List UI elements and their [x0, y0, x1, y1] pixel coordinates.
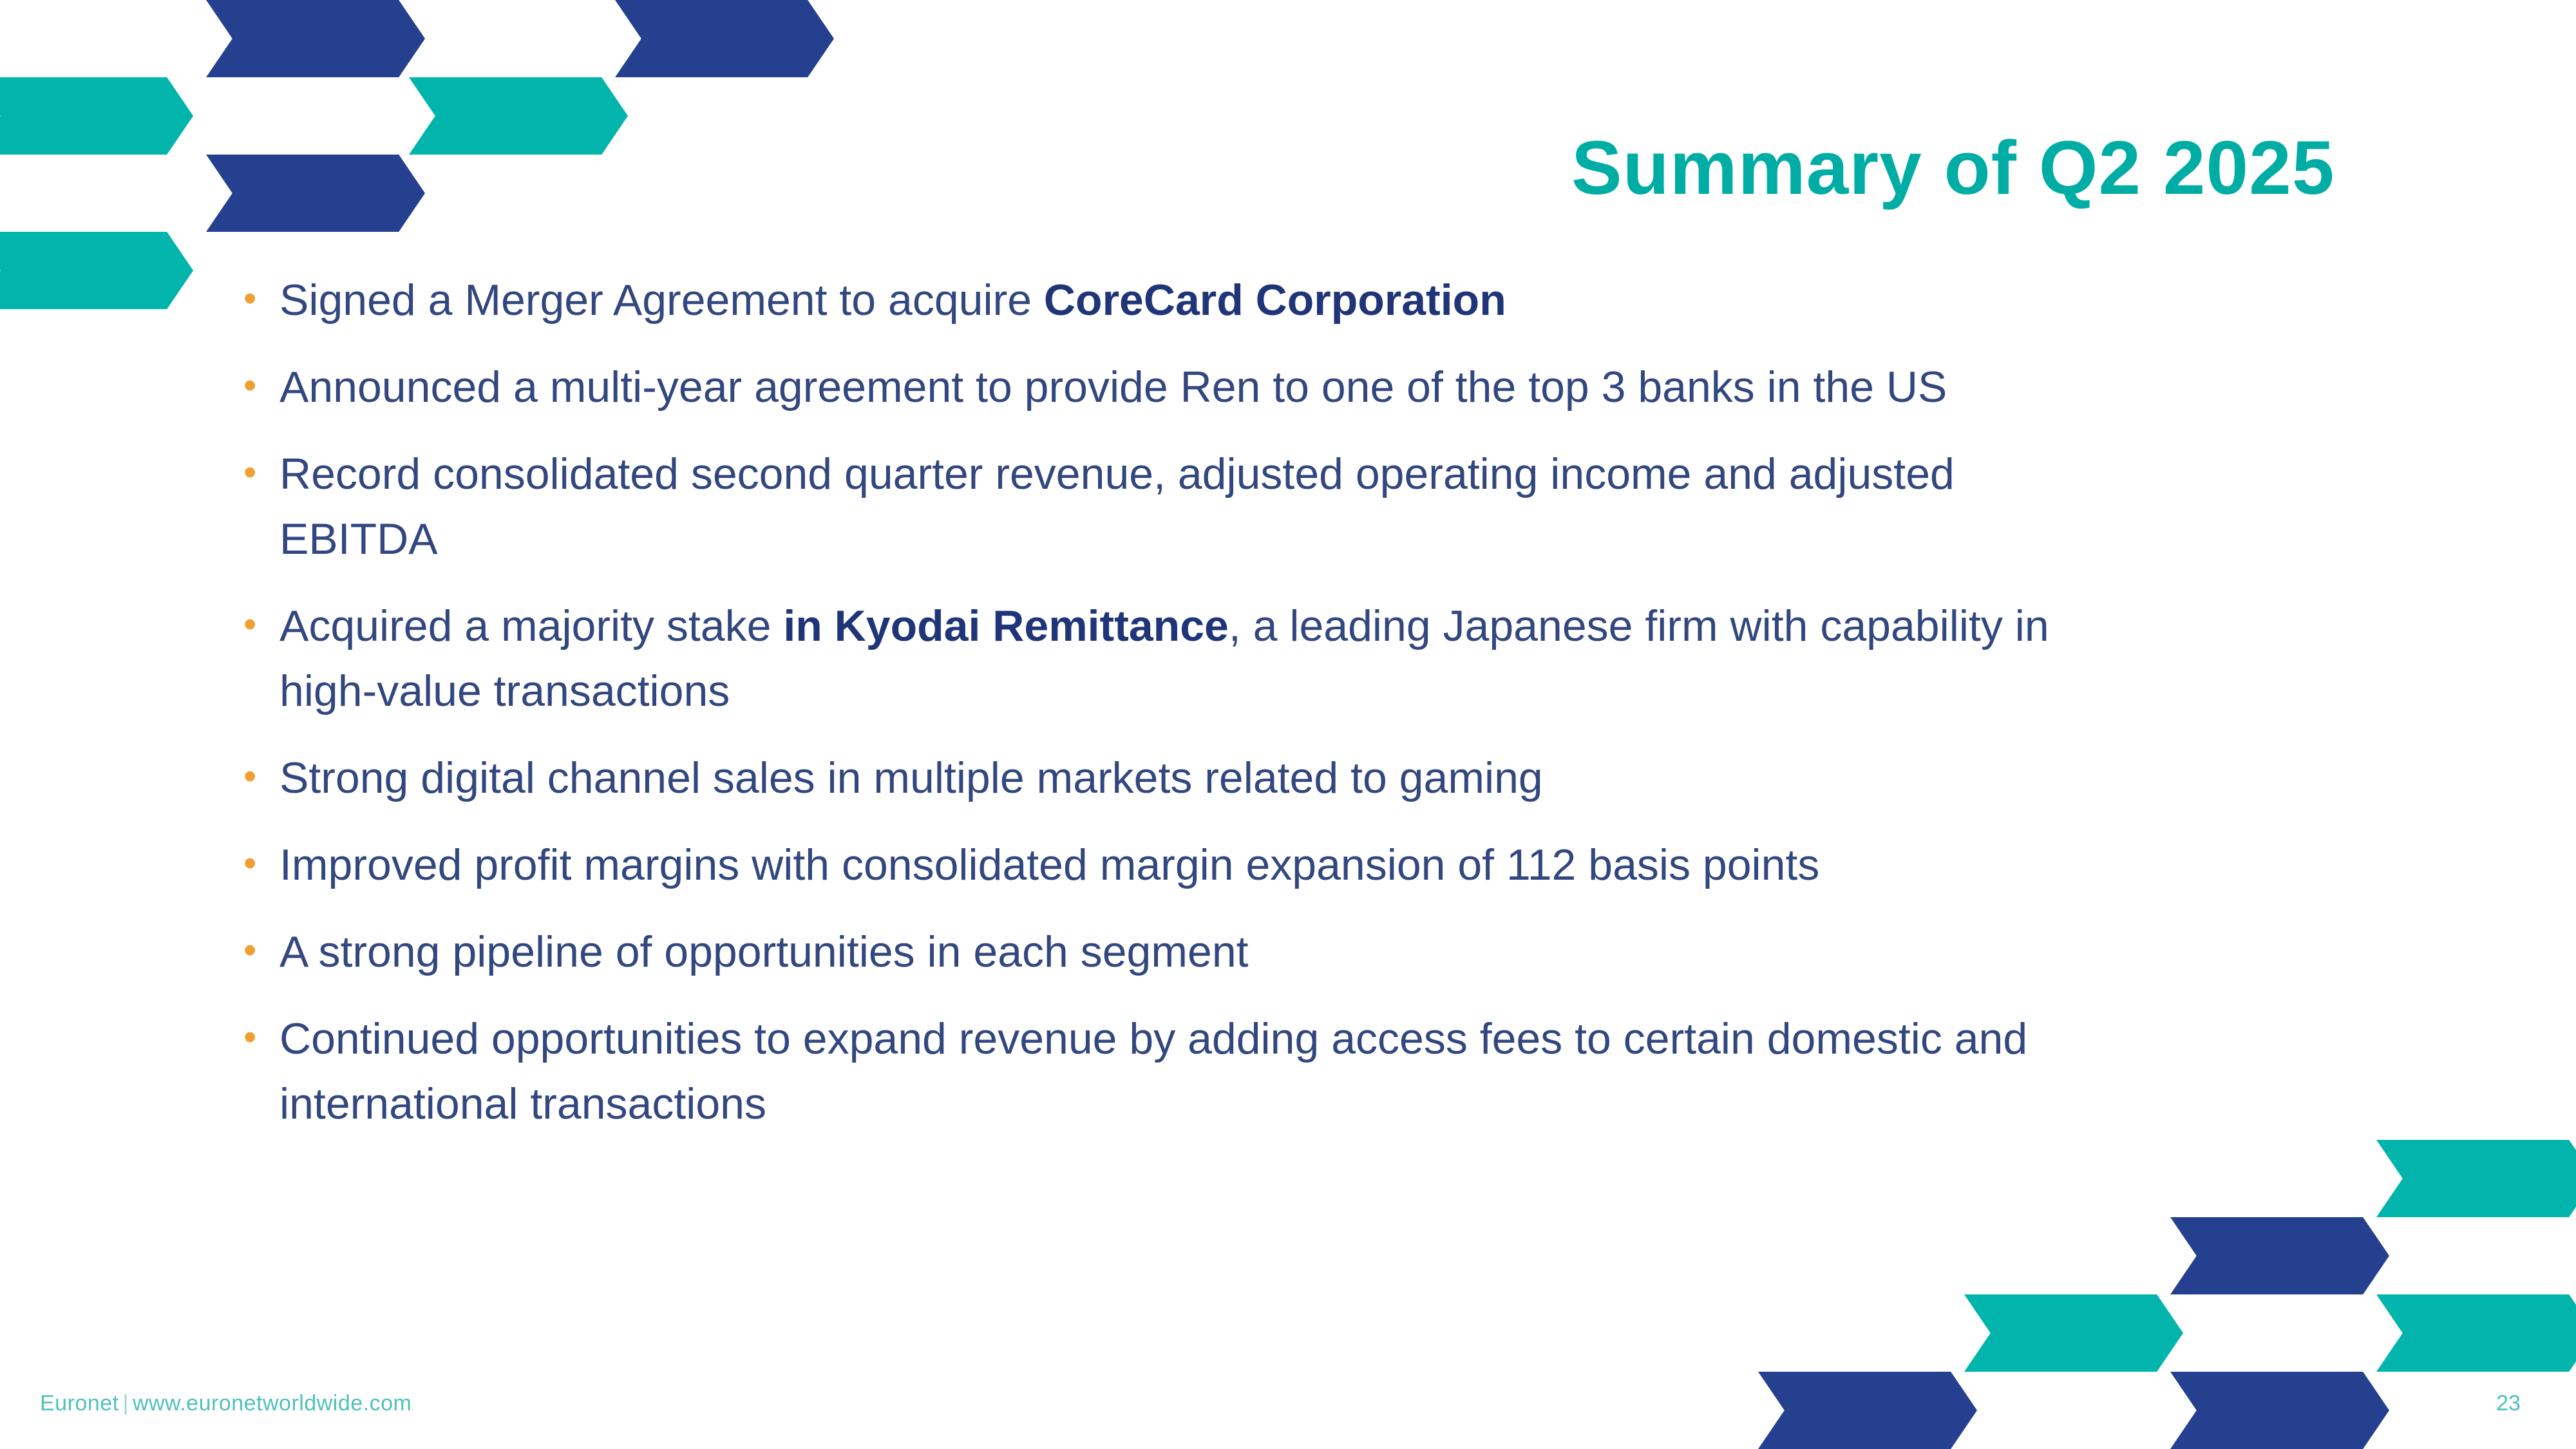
footer-website-link[interactable]: www.euronetworldwide.com: [133, 1391, 412, 1416]
deco-bottom-right-chevron-6: [2170, 1372, 2389, 1449]
bullet-item: •A strong pipeline of opportunities in e…: [238, 920, 2170, 985]
bullet-marker-icon: •: [238, 594, 279, 656]
bullet-emphasis: in Kyodai Remittance: [783, 601, 1229, 650]
footer-separator: |: [119, 1391, 133, 1416]
bullet-marker-icon: •: [238, 833, 279, 895]
bullet-text-run: Announced a multi-year agreement to prov…: [279, 363, 1947, 412]
bullet-item: •Continued opportunities to expand reven…: [238, 1007, 2170, 1137]
bullet-text-run: Strong digital channel sales in multiple…: [279, 753, 1543, 802]
bullet-text-run: A strong pipeline of opportunities in ea…: [279, 927, 1249, 976]
bullet-text: Acquired a majority stake in Kyodai Remi…: [279, 594, 2083, 724]
bullet-text: Signed a Merger Agreement to acquire Cor…: [279, 268, 2083, 333]
bullet-text-run: Record consolidated second quarter reven…: [279, 450, 1955, 563]
deco-bottom-right-chevron-4: [2376, 1294, 2576, 1372]
deco-bottom-right-chevron-5: [1758, 1372, 1977, 1449]
bullet-item: •Signed a Merger Agreement to acquire Co…: [238, 268, 2170, 333]
deco-top-left-chevron-1: [206, 0, 425, 77]
bullet-marker-icon: •: [238, 442, 279, 504]
page-title: Summary of Q2 2025: [1571, 129, 2334, 209]
bullet-text: A strong pipeline of opportunities in ea…: [279, 920, 2083, 985]
bullet-marker-icon: •: [238, 746, 279, 808]
bullet-text: Record consolidated second quarter reven…: [279, 442, 2083, 572]
bullet-marker-icon: •: [238, 355, 279, 417]
bullet-text: Improved profit margins with consolidate…: [279, 833, 2083, 898]
bullet-marker-icon: •: [238, 268, 279, 330]
bullet-emphasis: CoreCard Corporation: [1044, 276, 1506, 325]
bullet-text: Announced a multi-year agreement to prov…: [279, 355, 2083, 420]
bullet-item: •Acquired a majority stake in Kyodai Rem…: [238, 594, 2170, 724]
deco-top-left-chevron-5: [206, 155, 425, 232]
deco-bottom-right-chevron-3: [1964, 1294, 2183, 1372]
deco-bottom-right-chevron-2: [2170, 1217, 2389, 1294]
deco-bottom-right-chevron-1: [2376, 1140, 2576, 1217]
bullet-item: •Improved profit margins with consolidat…: [238, 833, 2170, 898]
bullet-marker-icon: •: [238, 1007, 279, 1068]
bullet-item: •Announced a multi-year agreement to pro…: [238, 355, 2170, 420]
deco-top-left-chevron-2: [615, 0, 834, 77]
slide-canvas: Summary of Q2 2025 •Signed a Merger Agre…: [0, 0, 2576, 1449]
footer-brand-label: Euronet: [40, 1391, 119, 1416]
bullet-text: Strong digital channel sales in multiple…: [279, 746, 2083, 811]
bullet-text-run: Continued opportunities to expand revenu…: [279, 1014, 2027, 1128]
bullet-marker-icon: •: [238, 920, 279, 981]
bullet-text-run: Improved profit margins with consolidate…: [279, 840, 1819, 889]
deco-top-left-chevron-4: [409, 77, 628, 155]
bullet-item: •Record consolidated second quarter reve…: [238, 442, 2170, 572]
bullet-text-run: Signed a Merger Agreement to acquire: [279, 276, 1044, 325]
bullet-item: •Strong digital channel sales in multipl…: [238, 746, 2170, 811]
bullet-list: •Signed a Merger Agreement to acquire Co…: [238, 268, 2170, 1159]
deco-top-left-chevron-3: [0, 77, 193, 155]
bullet-text: Continued opportunities to expand revenu…: [279, 1007, 2083, 1137]
bullet-text-run: Acquired a majority stake: [279, 601, 783, 650]
page-number: 23: [2479, 1391, 2537, 1416]
deco-top-left-chevron-6: [0, 232, 193, 309]
footer-brand-line: Euronet|www.euronetworldwide.com: [40, 1391, 412, 1416]
